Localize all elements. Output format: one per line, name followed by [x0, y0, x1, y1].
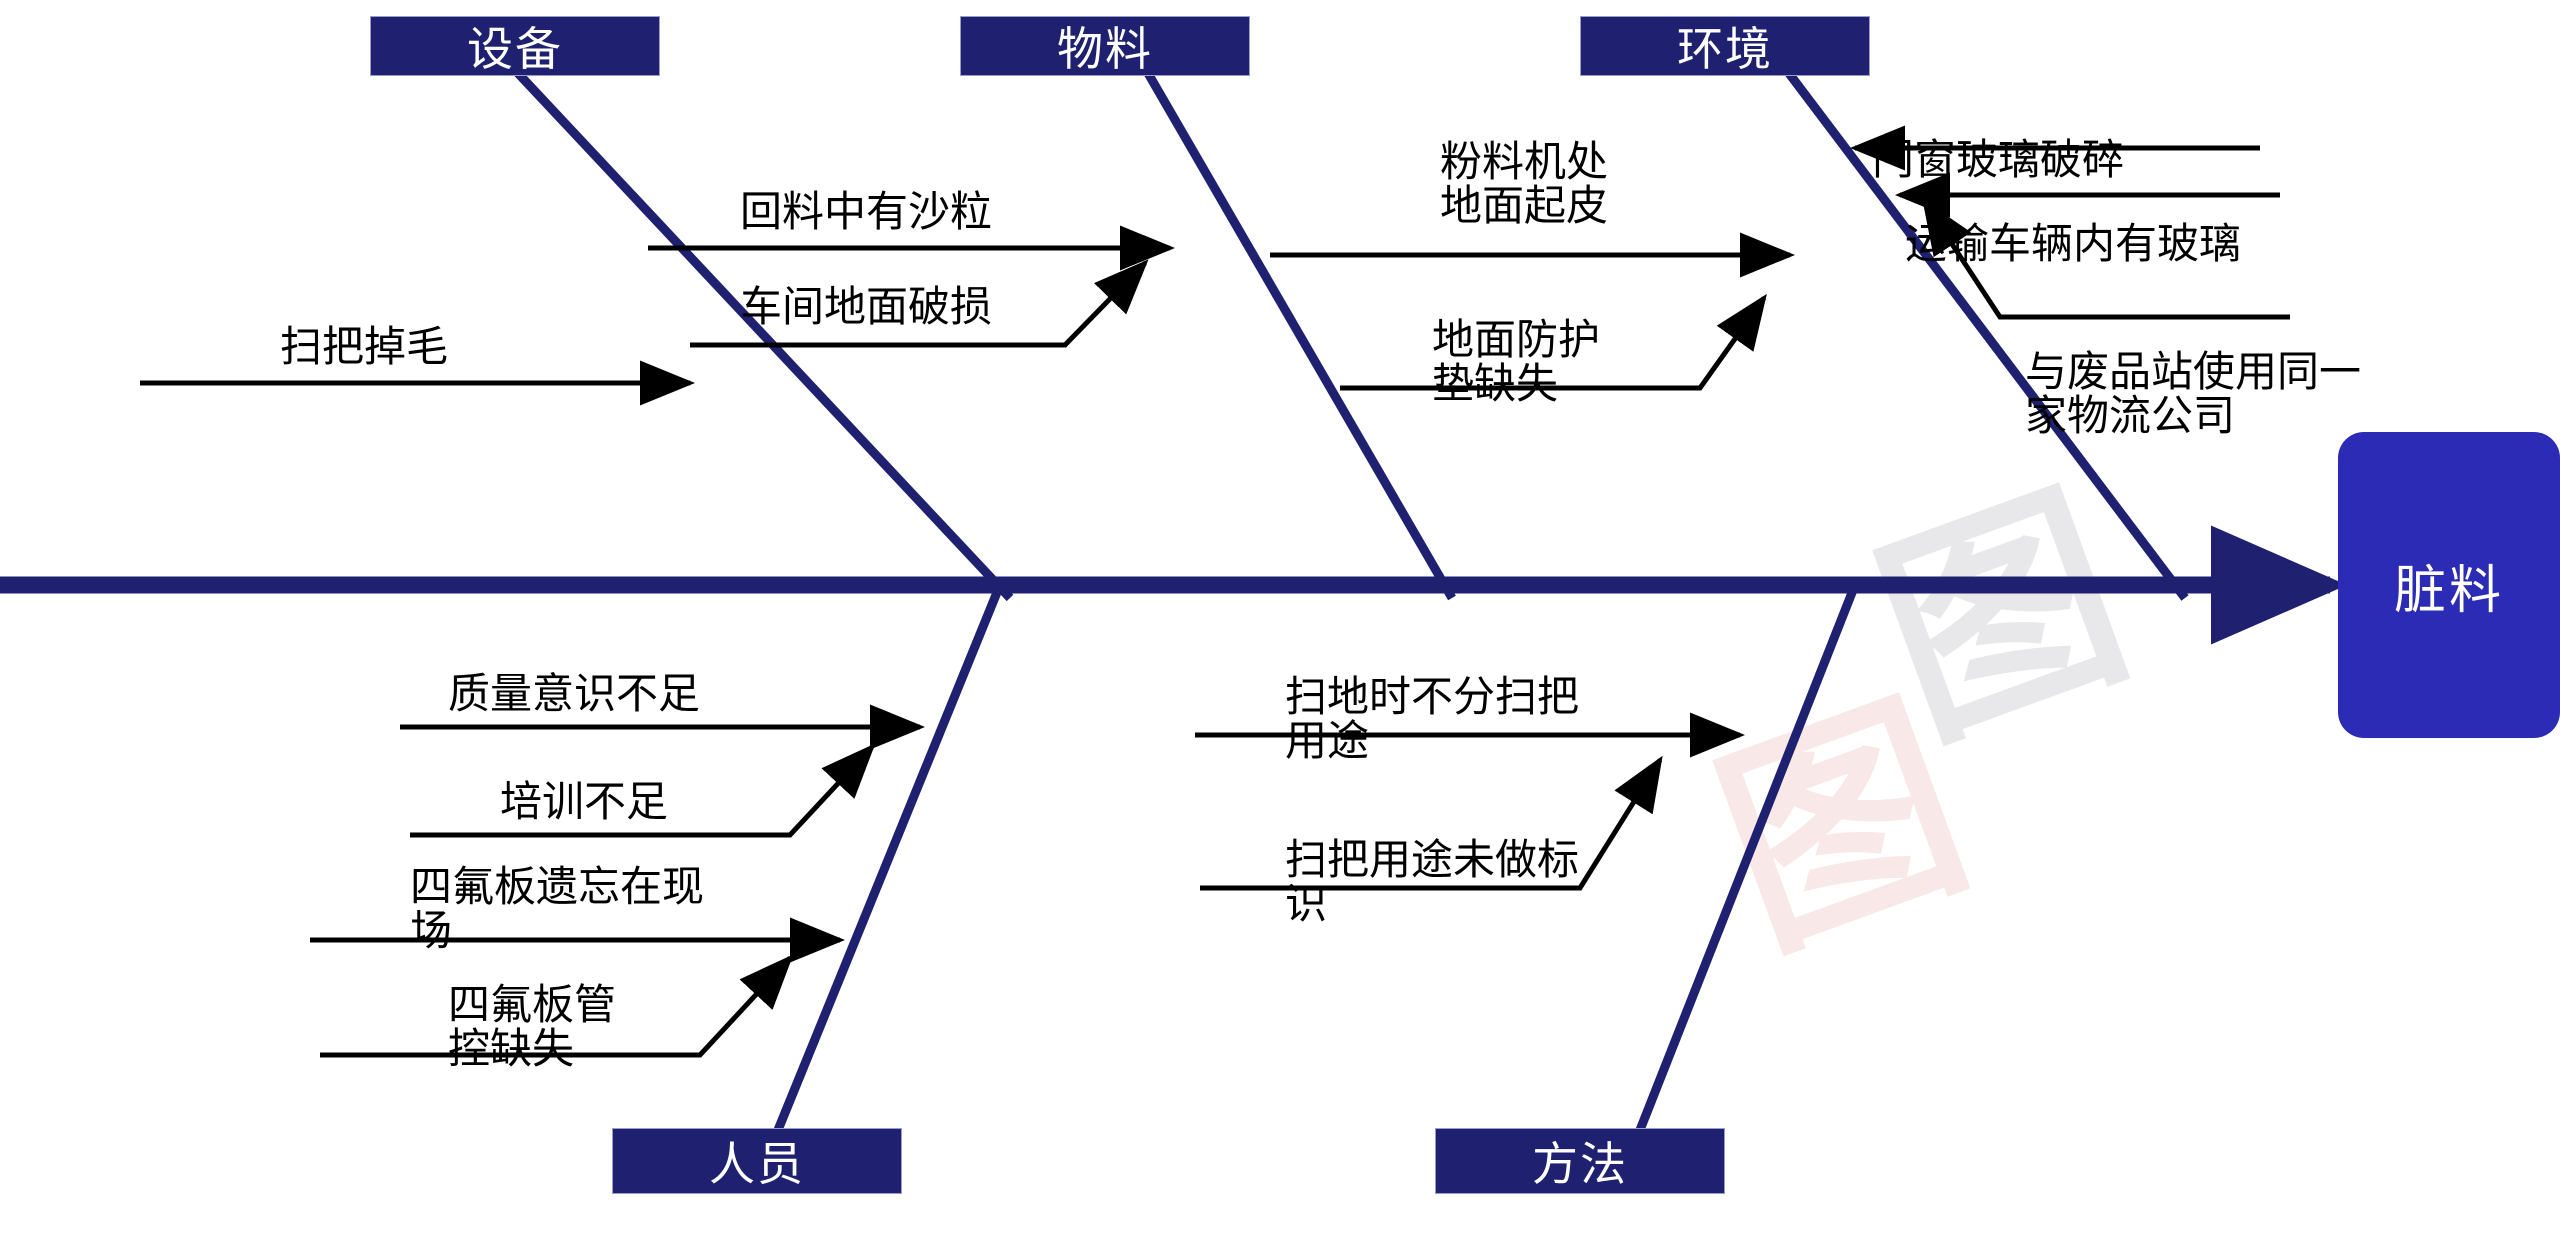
bone-line-personnel	[778, 585, 1000, 1130]
category-box-environment[interactable]: 环境	[1580, 16, 1870, 76]
fishbone-diagram-canvas: 图 图	[0, 0, 2560, 1241]
category-label-material: 物料	[1057, 13, 1153, 79]
fishbone-skeleton	[0, 0, 2560, 1241]
cause-label-environment-2: 地面防护 垫缺失	[1432, 318, 1732, 405]
cause-label-environment-4: 运输车辆内有玻璃	[1905, 222, 2241, 266]
effect-head-box[interactable]: 脏料	[2338, 432, 2560, 738]
cause-label-method-1: 扫地时不分扫把 用途	[1285, 675, 1745, 762]
cause-label-material-1: 回料中有沙粒	[740, 190, 992, 234]
cause-label-personnel-2: 培训不足	[500, 780, 668, 824]
category-box-equipment[interactable]: 设备	[370, 16, 660, 76]
category-label-environment: 环境	[1677, 13, 1773, 79]
bone-personnel	[778, 585, 1000, 1130]
category-box-personnel[interactable]: 人员	[612, 1128, 902, 1194]
bone-line-equipment	[515, 70, 1010, 598]
cause-label-material-2-text: 车间地面破损	[740, 285, 992, 329]
bone-material	[1145, 68, 1452, 598]
cause-label-personnel-1: 质量意识不足	[448, 672, 700, 716]
cause-label-method-2: 扫把用途未做标 识	[1285, 838, 1745, 925]
effect-label: 脏料	[2394, 548, 2504, 623]
cause-label-equipment-1: 扫把掉毛	[280, 325, 448, 369]
bone-equipment	[515, 70, 1010, 598]
cause-label-environment-5: 与废品站使用同一 家物流公司	[2025, 350, 2485, 437]
cause-label-environment-3: 门窗玻璃破碎	[1872, 138, 2124, 182]
cause-label-personnel-4: 四氟板管 控缺失	[448, 983, 808, 1070]
category-label-equipment: 设备	[467, 13, 563, 79]
category-box-material[interactable]: 物料	[960, 16, 1250, 76]
category-label-personnel: 人员	[709, 1128, 805, 1194]
category-label-method: 方法	[1532, 1128, 1628, 1194]
cause-label-environment-1: 粉料机处 地面起皮	[1440, 140, 1740, 227]
category-box-method[interactable]: 方法	[1435, 1128, 1725, 1194]
bone-line-material	[1145, 68, 1452, 598]
cause-label-personnel-3: 四氟板遗忘在现 场	[410, 865, 870, 952]
